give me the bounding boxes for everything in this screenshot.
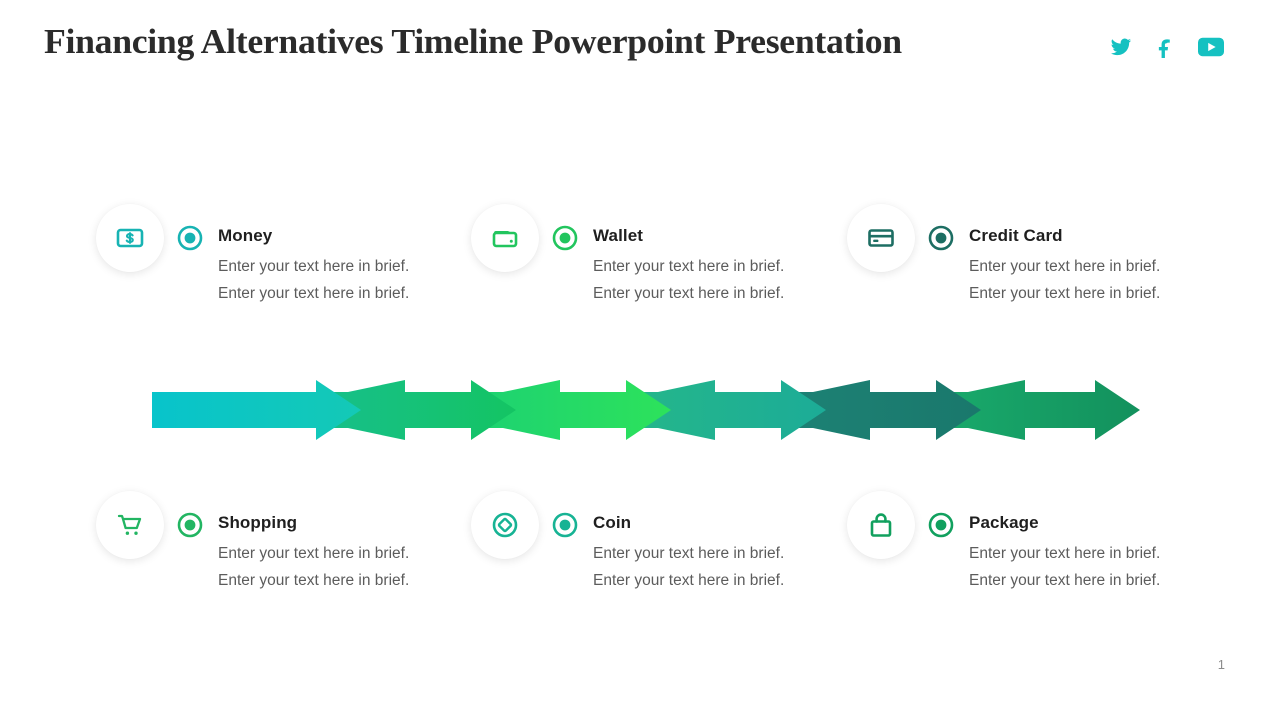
facebook-icon[interactable] — [1154, 36, 1176, 58]
money-icon-badge — [96, 204, 164, 272]
item-description: Enter your text here in brief. Enter you… — [218, 254, 424, 307]
wallet-icon — [489, 222, 521, 254]
shopping-cart-icon — [114, 509, 146, 541]
bullet-icon — [176, 511, 204, 539]
item-package[interactable]: Package Enter your text here in brief. E… — [847, 491, 1167, 631]
bullet-icon — [176, 224, 204, 252]
social-links — [1110, 36, 1224, 58]
bullet-icon — [551, 511, 579, 539]
page-title: Financing Alternatives Timeline Powerpoi… — [44, 22, 902, 62]
slide-header: Financing Alternatives Timeline Powerpoi… — [0, 0, 1280, 90]
item-description: Enter your text here in brief. Enter you… — [593, 254, 799, 307]
shopping-cart-icon-badge — [96, 491, 164, 559]
money-icon — [114, 222, 146, 254]
item-label: Wallet — [593, 226, 643, 246]
credit-card-icon — [865, 222, 897, 254]
bullet-icon — [927, 511, 955, 539]
wallet-icon-badge — [471, 204, 539, 272]
item-description: Enter your text here in brief. Enter you… — [218, 541, 424, 594]
timeline-arrow-bar: 01 02 03 04 05 06 — [0, 370, 1280, 450]
item-description: Enter your text here in brief. Enter you… — [969, 541, 1175, 594]
youtube-icon[interactable] — [1198, 37, 1224, 57]
item-shopping[interactable]: Shopping Enter your text here in brief. … — [96, 491, 416, 631]
package-icon — [865, 509, 897, 541]
item-label: Package — [969, 513, 1039, 533]
timeline-arrow-01[interactable] — [152, 380, 361, 440]
page-number: 1 — [1218, 657, 1225, 672]
item-coin[interactable]: Coin Enter your text here in brief. Ente… — [471, 491, 791, 631]
coin-icon — [489, 509, 521, 541]
item-label: Credit Card — [969, 226, 1063, 246]
item-label: Money — [218, 226, 272, 246]
bullet-icon — [927, 224, 955, 252]
item-description: Enter your text here in brief. Enter you… — [969, 254, 1175, 307]
item-label: Coin — [593, 513, 631, 533]
bullet-icon — [551, 224, 579, 252]
item-credit-card[interactable]: Credit Card Enter your text here in brie… — [847, 204, 1167, 344]
coin-icon-badge — [471, 491, 539, 559]
twitter-icon[interactable] — [1110, 36, 1132, 58]
item-wallet[interactable]: Wallet Enter your text here in brief. En… — [471, 204, 791, 344]
item-label: Shopping — [218, 513, 297, 533]
package-icon-badge — [847, 491, 915, 559]
credit-card-icon-badge — [847, 204, 915, 272]
timeline-svg — [0, 370, 1280, 450]
item-money[interactable]: Money Enter your text here in brief. Ent… — [96, 204, 416, 344]
item-description: Enter your text here in brief. Enter you… — [593, 541, 799, 594]
